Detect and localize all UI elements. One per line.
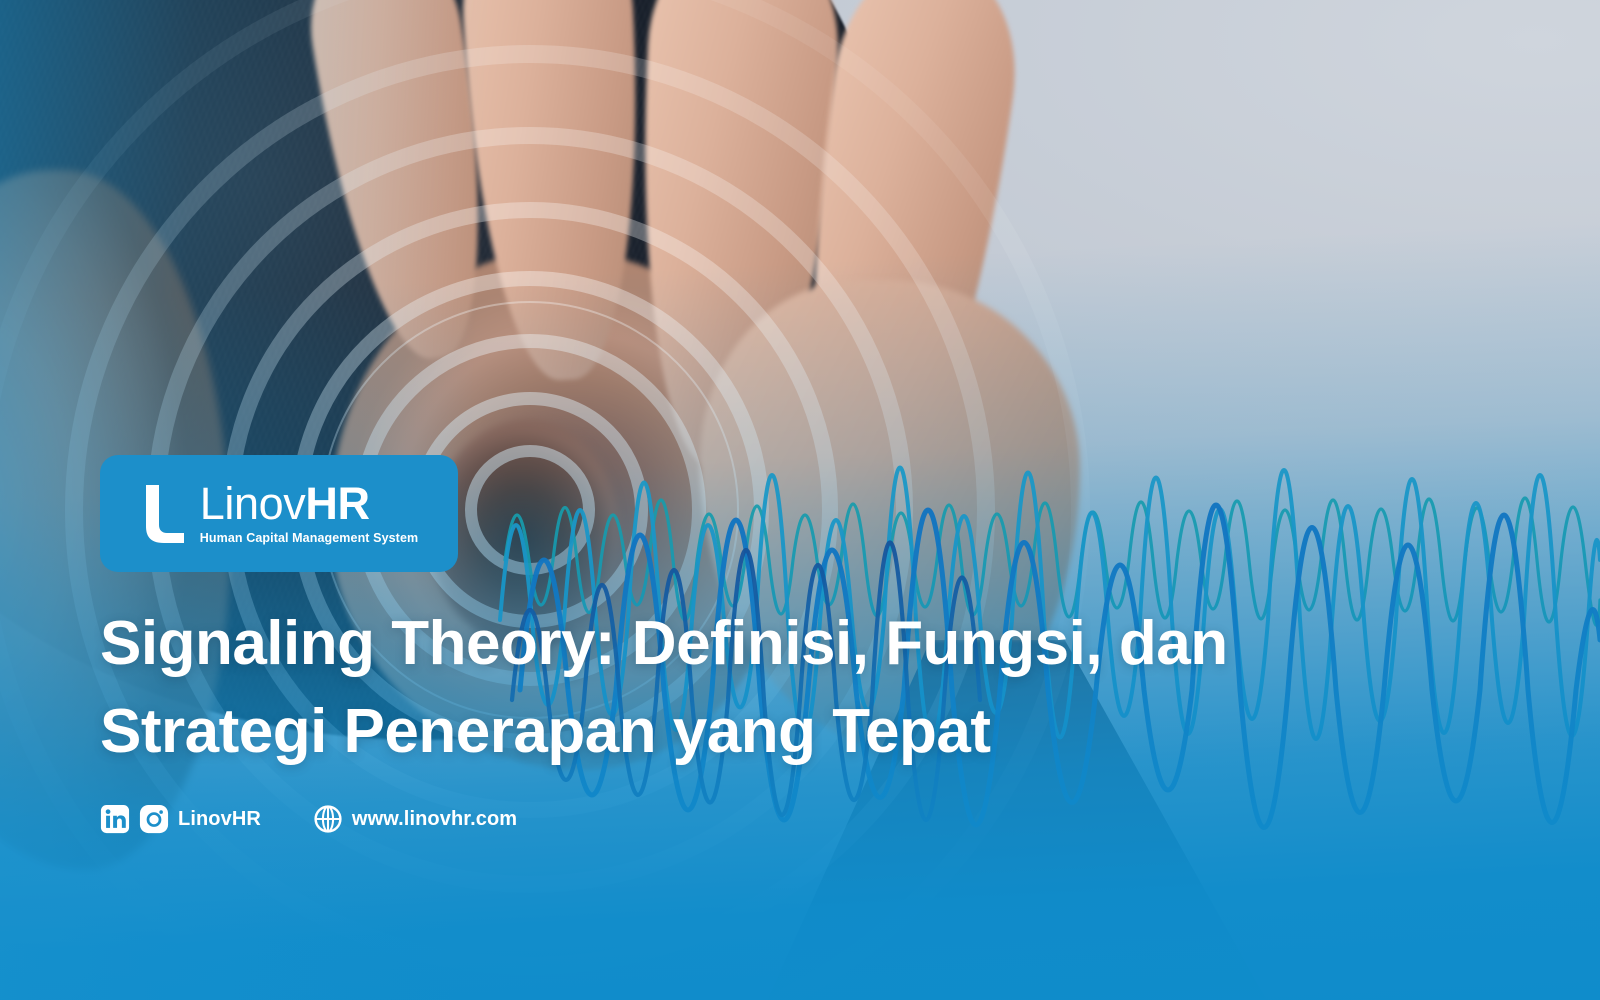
banner-content: LinovHR Human Capital Management System … (100, 455, 1420, 834)
linkedin-icon[interactable] (100, 804, 130, 834)
logo-wordmark: LinovHR (200, 481, 370, 527)
headline-line-1: Signaling Theory: Definisi, Fungsi, dan (100, 609, 1228, 678)
globe-icon[interactable] (313, 804, 343, 834)
linovhr-l-mark (140, 483, 186, 545)
social-handle-label: LinovHR (178, 808, 261, 831)
instagram-icon[interactable] (139, 804, 169, 834)
linovhr-logo-badge[interactable]: LinovHR Human Capital Management System (100, 455, 458, 572)
logo-word-hr: HR (305, 478, 369, 529)
article-cover-banner: LinovHR Human Capital Management System … (0, 0, 1600, 1000)
website-label: www.linovhr.com (352, 808, 517, 831)
logo-text-block: LinovHR Human Capital Management System (200, 481, 418, 546)
logo-word-linov: Linov (200, 478, 306, 529)
footer-meta-row: LinovHR www.linovhr.com (100, 804, 1420, 834)
page-title: Signaling Theory: Definisi, Fungsi, dan … (100, 600, 1370, 776)
logo-tagline: Human Capital Management System (200, 531, 418, 546)
headline-line-2: Strategi Penerapan yang Tepat (100, 697, 991, 766)
website-group: www.linovhr.com (313, 804, 517, 834)
social-group: LinovHR (100, 804, 261, 834)
